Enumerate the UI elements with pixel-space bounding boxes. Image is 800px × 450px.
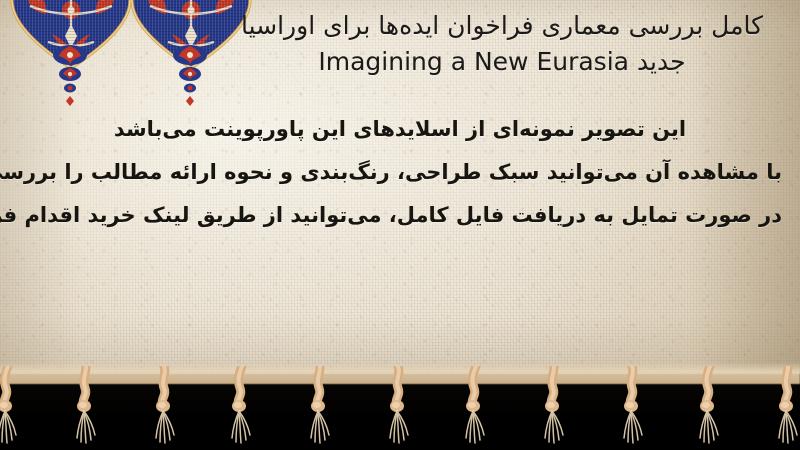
slide-canvas: کامل بررسی معماری فراخوان ایده‌ها برای ا…: [0, 0, 800, 450]
title-persian-suffix: جدید: [637, 47, 686, 76]
title-latin: Imagining a New Eurasia: [318, 47, 629, 76]
body-line-3: در صورت تمایل به دریافت فایل کامل، می‌تو…: [18, 194, 782, 237]
title-line-persian: کامل بررسی معماری فراخوان ایده‌ها برای ا…: [222, 8, 782, 44]
fringe-tassel-icon: [0, 366, 26, 450]
slide-title: کامل بررسی معماری فراخوان ایده‌ها برای ا…: [222, 8, 782, 80]
carpet-pendant-icon: [50, 44, 90, 106]
body-line-2: با مشاهده آن می‌توانید سبک طراحی، رنگ‌بن…: [18, 151, 782, 194]
fringe-tassel-icon: [68, 366, 104, 450]
carpet-pendant-icon: [170, 44, 210, 106]
carpet-fringe: [0, 366, 800, 450]
title-line-mixed: جدید Imagining a New Eurasia: [222, 44, 782, 80]
fringe-tassel-icon: [458, 366, 494, 450]
fringe-tassel-icon: [380, 366, 416, 450]
fringe-tassel-icon: [224, 366, 260, 450]
fringe-tassel-icon: [146, 366, 182, 450]
fringe-tassel-icon: [770, 366, 800, 450]
fringe-tassel-icon: [692, 366, 728, 450]
fringe-tassel-icon: [614, 366, 650, 450]
fringe-tassel-icon: [302, 366, 338, 450]
body-line-1: این تصویر نمونه‌ای از اسلایدهای این پاور…: [18, 108, 782, 151]
slide-body-text: این تصویر نمونه‌ای از اسلایدهای این پاور…: [0, 108, 800, 237]
fringe-tassel-icon: [536, 366, 572, 450]
